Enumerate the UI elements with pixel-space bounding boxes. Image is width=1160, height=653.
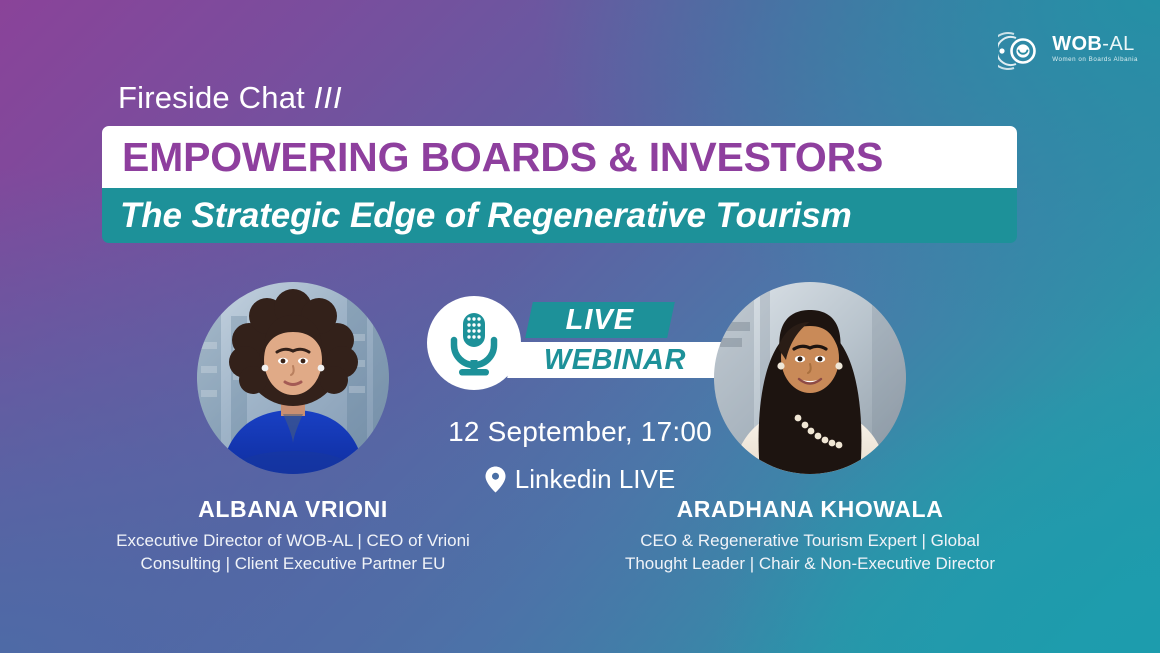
webinar-promo-poster: WOB-AL Women on Boards Albania Fireside … (0, 0, 1160, 653)
avatar (714, 282, 906, 474)
wob-target-icon (998, 30, 1044, 70)
portrait-aradhana-khowala (714, 282, 906, 474)
speaker-name: ARADHANA KHOWALA (600, 496, 1020, 523)
page-subtitle: The Strategic Edge of Regenerative Touri… (102, 196, 852, 236)
wob-al-logo: WOB-AL Women on Boards Albania (998, 30, 1138, 70)
eyebrow-label: Fireside Chat III (118, 80, 343, 116)
speaker-name: ALBANA VRIONI (83, 496, 503, 523)
speaker-card-aradhana-khowala: ARADHANA KHOWALA CEO & Regenerative Tour… (600, 282, 1020, 576)
fireside-chat-number: III (314, 80, 343, 115)
avatar (197, 282, 389, 474)
logo-title: WOB-AL (1052, 34, 1138, 54)
portrait-albana-vrioni (197, 282, 389, 474)
logo-subtitle: Women on Boards Albania (1052, 57, 1138, 63)
speaker-role: Excecutive Director of WOB-AL | CEO of V… (83, 530, 503, 576)
speaker-card-albana-vrioni: ALBANA VRIONI Excecutive Director of WOB… (83, 282, 503, 576)
speaker-role: CEO & Regenerative Tourism Expert | Glob… (600, 530, 1020, 576)
title-bar: EMPOWERING BOARDS & INVESTORS (102, 126, 1017, 188)
subtitle-bar: The Strategic Edge of Regenerative Touri… (102, 188, 1017, 243)
page-title: EMPOWERING BOARDS & INVESTORS (102, 134, 883, 181)
